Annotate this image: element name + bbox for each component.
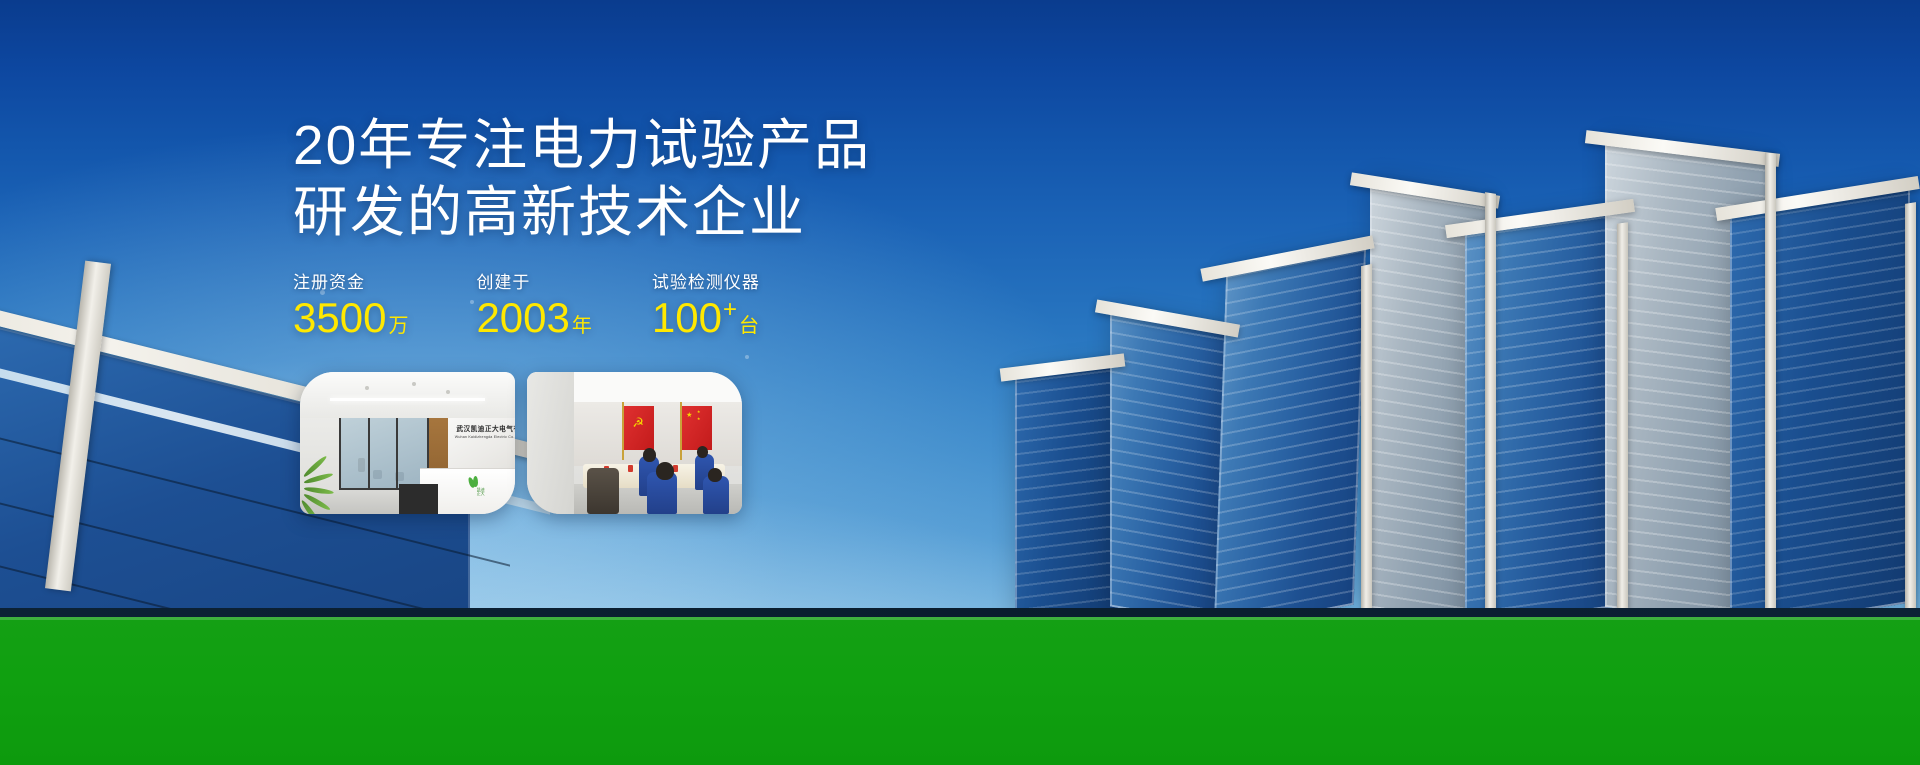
logo-text: 凯迪 正大 bbox=[477, 488, 485, 497]
tower-fin bbox=[1765, 152, 1776, 617]
tower-fin bbox=[1485, 192, 1496, 618]
table-item bbox=[628, 465, 633, 472]
photo-ceiling-dot bbox=[412, 382, 416, 386]
dark-divider-strip bbox=[0, 608, 1920, 617]
band-highlight bbox=[0, 617, 1920, 620]
stat-unit: 年 bbox=[572, 315, 592, 337]
stat-value: 100+台 bbox=[652, 297, 760, 339]
leaf-icon bbox=[473, 476, 478, 487]
star-icon: ★ bbox=[697, 417, 701, 421]
building-cluster bbox=[840, 57, 1920, 617]
star-icon: ★ bbox=[686, 412, 692, 419]
photo-desk-base bbox=[399, 484, 438, 514]
attendee-head bbox=[643, 448, 656, 462]
stat-founded-year: 创建于 2003年 bbox=[476, 268, 591, 339]
star-icon: ★ bbox=[697, 410, 701, 414]
photo-office-reception[interactable]: 武汉凯迪正大电气有限公司 Wuhan Kaidizhengda Electric… bbox=[300, 372, 515, 514]
stat-label: 注册资金 bbox=[293, 268, 408, 293]
stat-unit: 万 bbox=[388, 315, 408, 337]
tower bbox=[1110, 306, 1230, 627]
tower bbox=[1015, 361, 1120, 624]
company-name-en: Wuhan Kaidizhengda Electric Co.,Ltd bbox=[455, 435, 512, 439]
photo-gallery: 武汉凯迪正大电气有限公司 Wuhan Kaidizhengda Electric… bbox=[300, 372, 742, 514]
logo-text-line-2: 正大 bbox=[477, 492, 485, 496]
hero-banner: 20年专注电力试验产品 研发的高新技术企业 注册资金 3500万 创建于 200… bbox=[0, 0, 1920, 765]
tower bbox=[1214, 242, 1367, 632]
tower-fin bbox=[1905, 202, 1916, 618]
stat-number: 2003 bbox=[476, 294, 569, 341]
photo-meeting-room[interactable]: ☭ ★ ★ ★ bbox=[527, 372, 742, 514]
stats-row: 注册资金 3500万 创建于 2003年 试验检测仪器 100+台 bbox=[293, 268, 820, 339]
stat-test-instruments: 试验检测仪器 100+台 bbox=[652, 268, 760, 339]
photo-ceiling-light bbox=[330, 398, 485, 401]
meeting-chair bbox=[587, 468, 619, 514]
tower bbox=[1730, 183, 1910, 632]
photo-ceiling-dot bbox=[365, 386, 369, 390]
stat-number: 100 bbox=[652, 294, 722, 341]
headline-line-2: 研发的高新技术企业 bbox=[293, 179, 871, 246]
stat-label: 创建于 bbox=[476, 268, 591, 293]
attendee-head bbox=[656, 462, 674, 480]
attendee-head bbox=[708, 468, 722, 482]
stat-value: 3500万 bbox=[293, 297, 408, 339]
tower-fin bbox=[1617, 222, 1628, 618]
photo-company-sign: 武汉凯迪正大电气有限公司 Wuhan Kaidizhengda Electric… bbox=[455, 424, 512, 439]
stat-value: 2003年 bbox=[476, 297, 591, 339]
photo-side-wall bbox=[527, 372, 574, 514]
photo-ceiling bbox=[300, 372, 515, 418]
headline-line-1: 20年专注电力试验产品 bbox=[293, 112, 871, 179]
photo-glass-divider bbox=[368, 414, 370, 488]
company-name-cn: 武汉凯迪正大电气有限公司 bbox=[456, 424, 510, 434]
tower-fin bbox=[1361, 264, 1372, 618]
attendee-head bbox=[697, 446, 708, 458]
photo-plant bbox=[300, 468, 358, 514]
hammer-sickle-icon: ☭ bbox=[632, 416, 644, 429]
stat-unit: 台 bbox=[739, 315, 759, 337]
photo-brand-logo: 凯迪 正大 bbox=[468, 476, 490, 502]
stat-plus: + bbox=[723, 296, 737, 323]
green-footer-band bbox=[0, 617, 1920, 765]
headline: 20年专注电力试验产品 研发的高新技术企业 bbox=[293, 112, 871, 246]
stat-label: 试验检测仪器 bbox=[652, 268, 760, 293]
photo-glass-divider bbox=[396, 414, 398, 488]
stat-number: 3500 bbox=[293, 294, 386, 341]
sky-speck bbox=[745, 355, 749, 359]
stat-registered-capital: 注册资金 3500万 bbox=[293, 268, 408, 339]
plant-frond bbox=[304, 486, 334, 495]
